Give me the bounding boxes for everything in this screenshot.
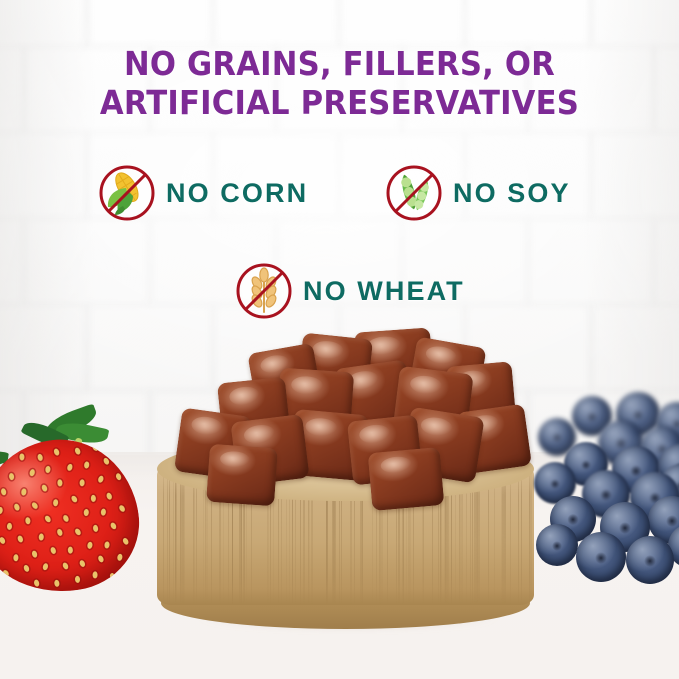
treat-cube — [368, 447, 445, 511]
claim-label-no-wheat: NO WHEAT — [303, 276, 465, 307]
soybean-pod-glyph — [383, 162, 445, 224]
claim-label-no-corn: NO CORN — [166, 178, 308, 209]
blueberry — [576, 532, 626, 582]
no-corn-icon — [96, 162, 158, 224]
blueberry — [626, 536, 674, 584]
blueberry — [536, 524, 578, 566]
no-wheat-icon — [233, 260, 295, 322]
strawberry-seeds — [0, 430, 148, 603]
claim-label-no-soy: NO SOY — [453, 178, 571, 209]
strawberry-prop — [0, 404, 154, 600]
treat-cube-pile — [160, 326, 530, 496]
blueberries-prop — [520, 392, 679, 607]
claim-no-corn: NO CORN — [96, 162, 308, 224]
product-marketing-image: NO GRAINS, FILLERS, OR ARTIFICIAL PRESER… — [0, 0, 679, 679]
claim-no-wheat: NO WHEAT — [233, 260, 465, 322]
headline-line-1: NO GRAINS, FILLERS, OR — [124, 44, 555, 83]
page-title: NO GRAINS, FILLERS, OR ARTIFICIAL PRESER… — [24, 44, 655, 122]
claim-no-soy: NO SOY — [383, 162, 571, 224]
headline-line-2: ARTIFICIAL PRESERVATIVES — [24, 83, 655, 122]
corn-cob-glyph — [96, 162, 158, 224]
no-soy-icon — [383, 162, 445, 224]
treat-cube — [206, 444, 278, 507]
wheat-stalk-glyph — [233, 260, 295, 322]
